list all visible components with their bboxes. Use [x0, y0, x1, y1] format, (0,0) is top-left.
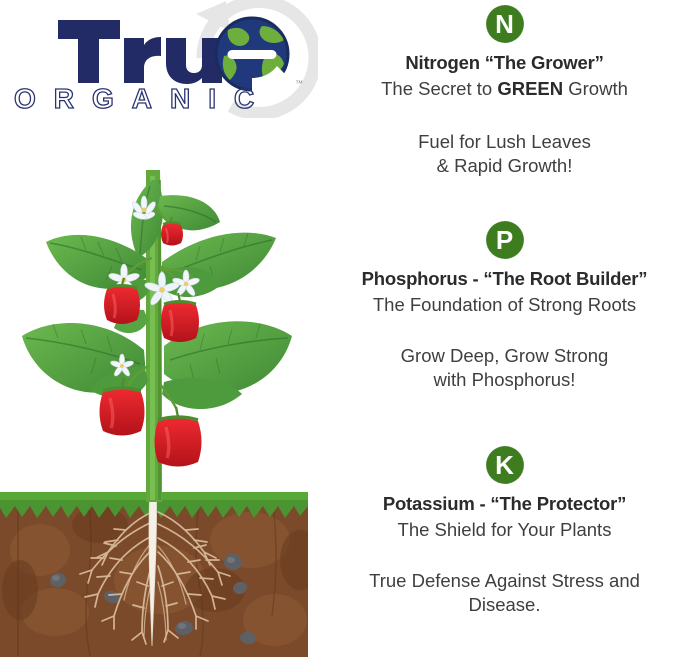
nitrogen-sub-suffix: Growth	[563, 78, 628, 99]
potassium-subline: The Shield for Your Plants	[330, 519, 679, 541]
nitrogen-headline: Nitrogen “The Grower”	[330, 52, 679, 74]
spacer	[330, 100, 679, 130]
potassium-badge-wrap: K	[330, 443, 679, 487]
nutrient-section-phosphorus: P Phosphorus - “The Root Builder” The Fo…	[330, 218, 679, 393]
nutrients-panel: N Nitrogen “The Grower” The Secret to GR…	[330, 0, 679, 657]
trademark-symbol: ™	[295, 79, 303, 88]
infographic-page: ™ ORGANIC	[0, 0, 679, 657]
nutrient-section-nitrogen: N Nitrogen “The Grower” The Secret to GR…	[330, 2, 679, 179]
potassium-tagline: True Defense Against Stress and Disease.	[330, 569, 679, 618]
potassium-tagline-line2: Disease.	[330, 593, 679, 617]
phosphorus-sub-prefix: The Foundation of Strong Roots	[373, 294, 636, 315]
nitrogen-badge-wrap: N	[330, 2, 679, 46]
globe-e-icon	[216, 18, 288, 92]
phosphorus-badge-wrap: P	[330, 218, 679, 262]
potassium-sub-prefix: The Shield for Your Plants	[398, 519, 612, 540]
potassium-tagline-line1: True Defense Against Stress and	[330, 569, 679, 593]
phosphorus-subline: The Foundation of Strong Roots	[330, 294, 679, 316]
phosphorus-tagline-line2: with Phosphorus!	[330, 368, 679, 392]
phosphorus-tagline: Grow Deep, Grow Strong with Phosphorus!	[330, 344, 679, 393]
plant-illustration-svg	[0, 150, 318, 657]
nitrogen-tagline: Fuel for Lush Leaves & Rapid Growth!	[330, 130, 679, 179]
brand-logo-svg: ™ ORGANIC	[0, 0, 318, 118]
nitrogen-sub-prefix: The Secret to	[381, 78, 497, 99]
nitrogen-subline: The Secret to GREEN Growth	[330, 78, 679, 100]
plant-illustration	[0, 150, 318, 657]
nitrogen-tagline-line2: & Rapid Growth!	[330, 154, 679, 178]
brand-logo: ™ ORGANIC	[0, 0, 318, 118]
nutrient-section-potassium: K Potassium - “The Protector” The Shield…	[330, 443, 679, 618]
spacer	[330, 541, 679, 569]
spacer	[330, 316, 679, 344]
left-illustration-panel: ™ ORGANIC	[0, 0, 330, 657]
phosphorus-badge-icon: P	[486, 221, 524, 259]
phosphorus-headline: Phosphorus - “The Root Builder”	[330, 268, 679, 290]
potassium-headline: Potassium - “The Protector”	[330, 493, 679, 515]
logo-word-organic: ORGANIC	[14, 83, 272, 114]
phosphorus-tagline-line1: Grow Deep, Grow Strong	[330, 344, 679, 368]
potassium-badge-icon: K	[486, 446, 524, 484]
soil-cross-section	[0, 492, 318, 657]
nitrogen-tagline-line1: Fuel for Lush Leaves	[330, 130, 679, 154]
nitrogen-badge-icon: N	[486, 5, 524, 43]
nitrogen-sub-emphasis: GREEN	[497, 78, 563, 99]
